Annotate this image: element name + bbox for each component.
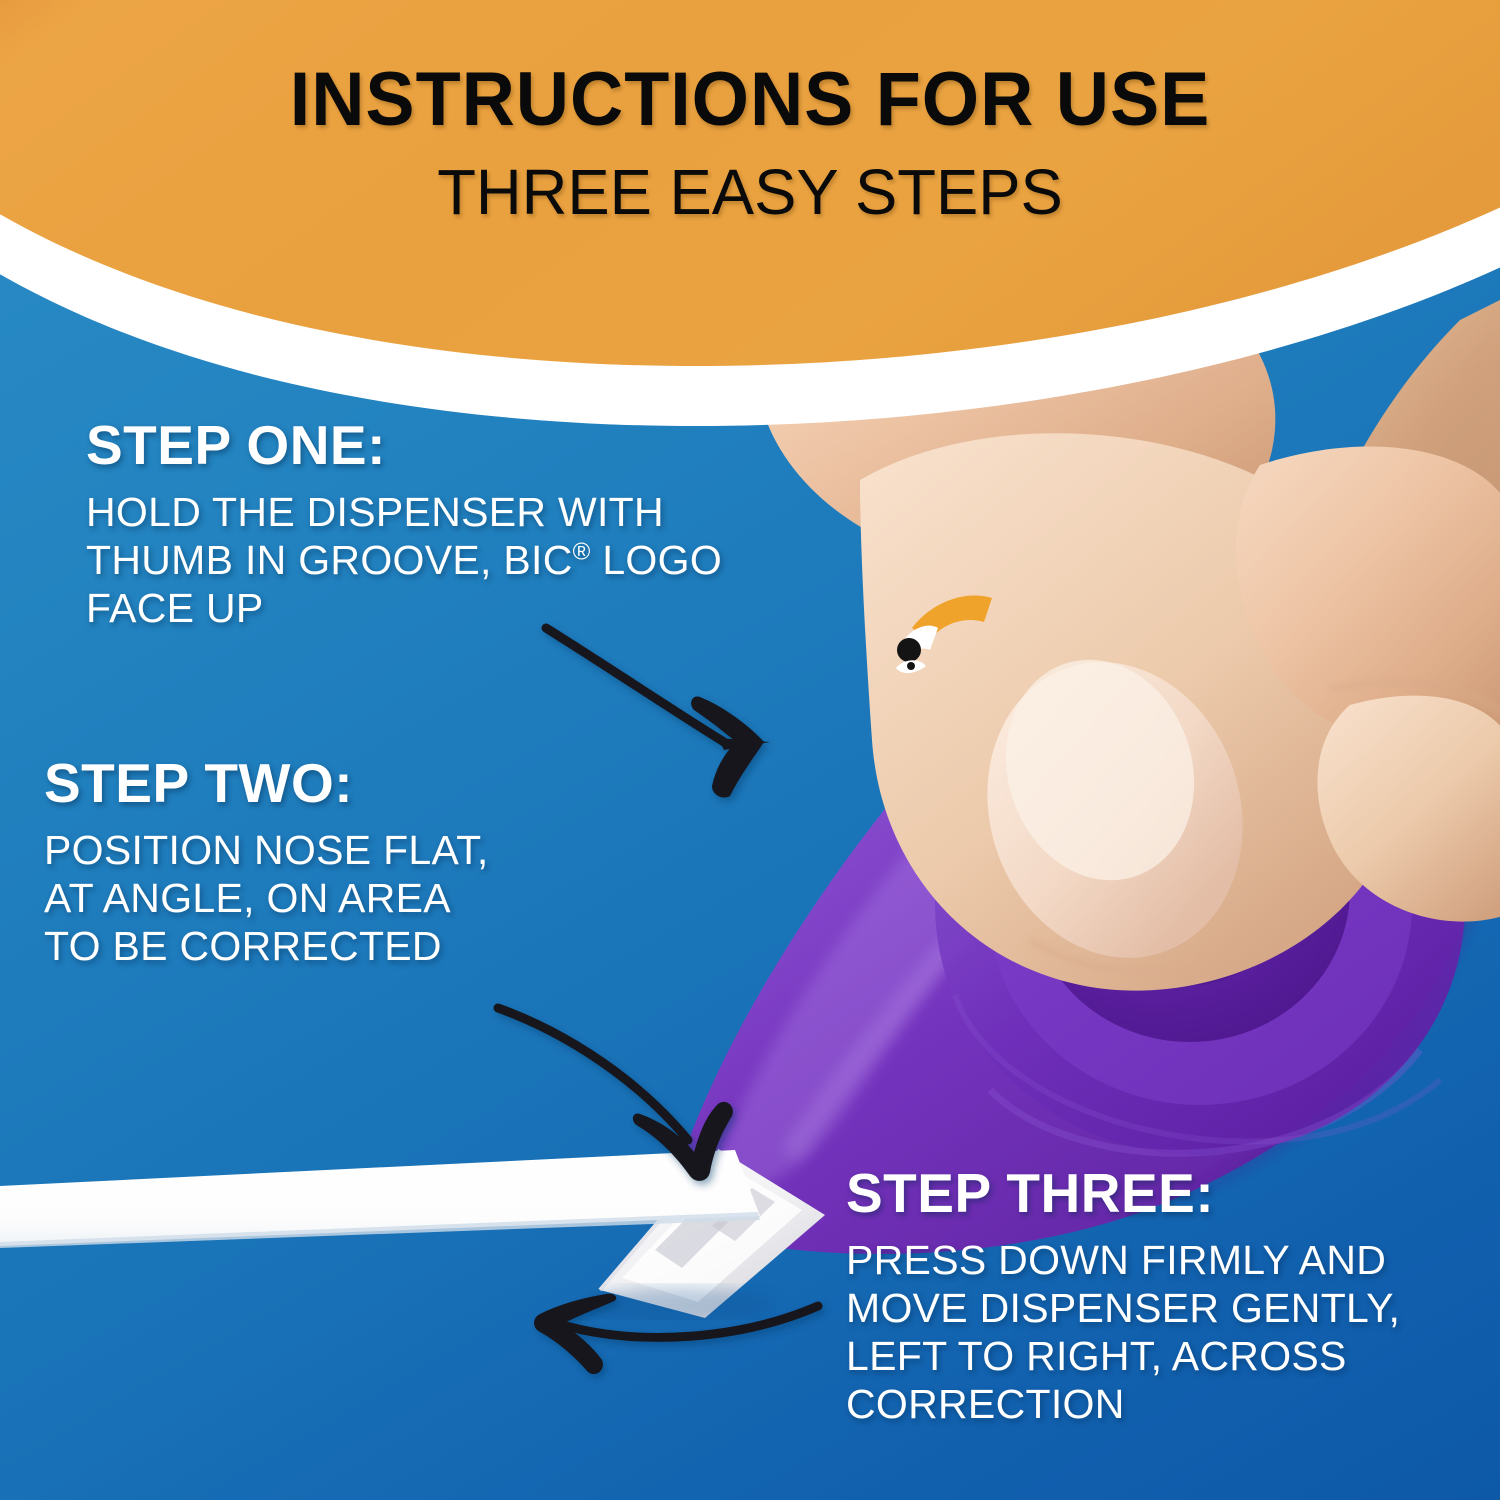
step-one-body: HOLD THE DISPENSER WITH THUMB IN GROOVE,… xyxy=(86,489,826,633)
step-two-body-line1: POSITION NOSE FLAT, xyxy=(44,827,489,873)
step-three-body-line3: LEFT TO RIGHT, ACROSS xyxy=(846,1333,1347,1379)
step-one-block: STEP ONE: HOLD THE DISPENSER WITH THUMB … xyxy=(86,418,826,633)
step-three-block: STEP THREE: PRESS DOWN FIRMLY AND MOVE D… xyxy=(846,1166,1486,1429)
registered-mark-icon: ® xyxy=(573,538,591,565)
step-three-heading: STEP THREE: xyxy=(846,1166,1486,1221)
step-two-block: STEP TWO: POSITION NOSE FLAT, AT ANGLE, … xyxy=(44,756,604,971)
step-one-heading: STEP ONE: xyxy=(86,418,826,473)
step-one-body-line1: HOLD THE DISPENSER WITH xyxy=(86,489,664,535)
step-three-body-line1: PRESS DOWN FIRMLY AND xyxy=(846,1237,1386,1283)
arrow-tape-direction xyxy=(534,1294,818,1374)
step-one-body-line2-pre: THUMB IN GROOVE, BIC xyxy=(86,537,573,583)
step-two-body: POSITION NOSE FLAT, AT ANGLE, ON AREA TO… xyxy=(44,827,604,971)
step-one-body-line2-post: LOGO xyxy=(591,537,722,583)
arrow-to-dispenser-nose xyxy=(498,1008,733,1181)
step-two-heading: STEP TWO: xyxy=(44,756,604,811)
step-three-body: PRESS DOWN FIRMLY AND MOVE DISPENSER GEN… xyxy=(846,1237,1486,1429)
step-two-body-line3: TO BE CORRECTED xyxy=(44,923,442,969)
instructions-graphic: INSTRUCTIONS FOR USE THREE EASY STEPS ST… xyxy=(0,0,1500,1500)
step-two-body-line2: AT ANGLE, ON AREA xyxy=(44,875,451,921)
step-three-body-line2: MOVE DISPENSER GENTLY, xyxy=(846,1285,1400,1331)
step-one-body-line3: FACE UP xyxy=(86,585,264,631)
step-three-body-line4: CORRECTION xyxy=(846,1381,1125,1427)
